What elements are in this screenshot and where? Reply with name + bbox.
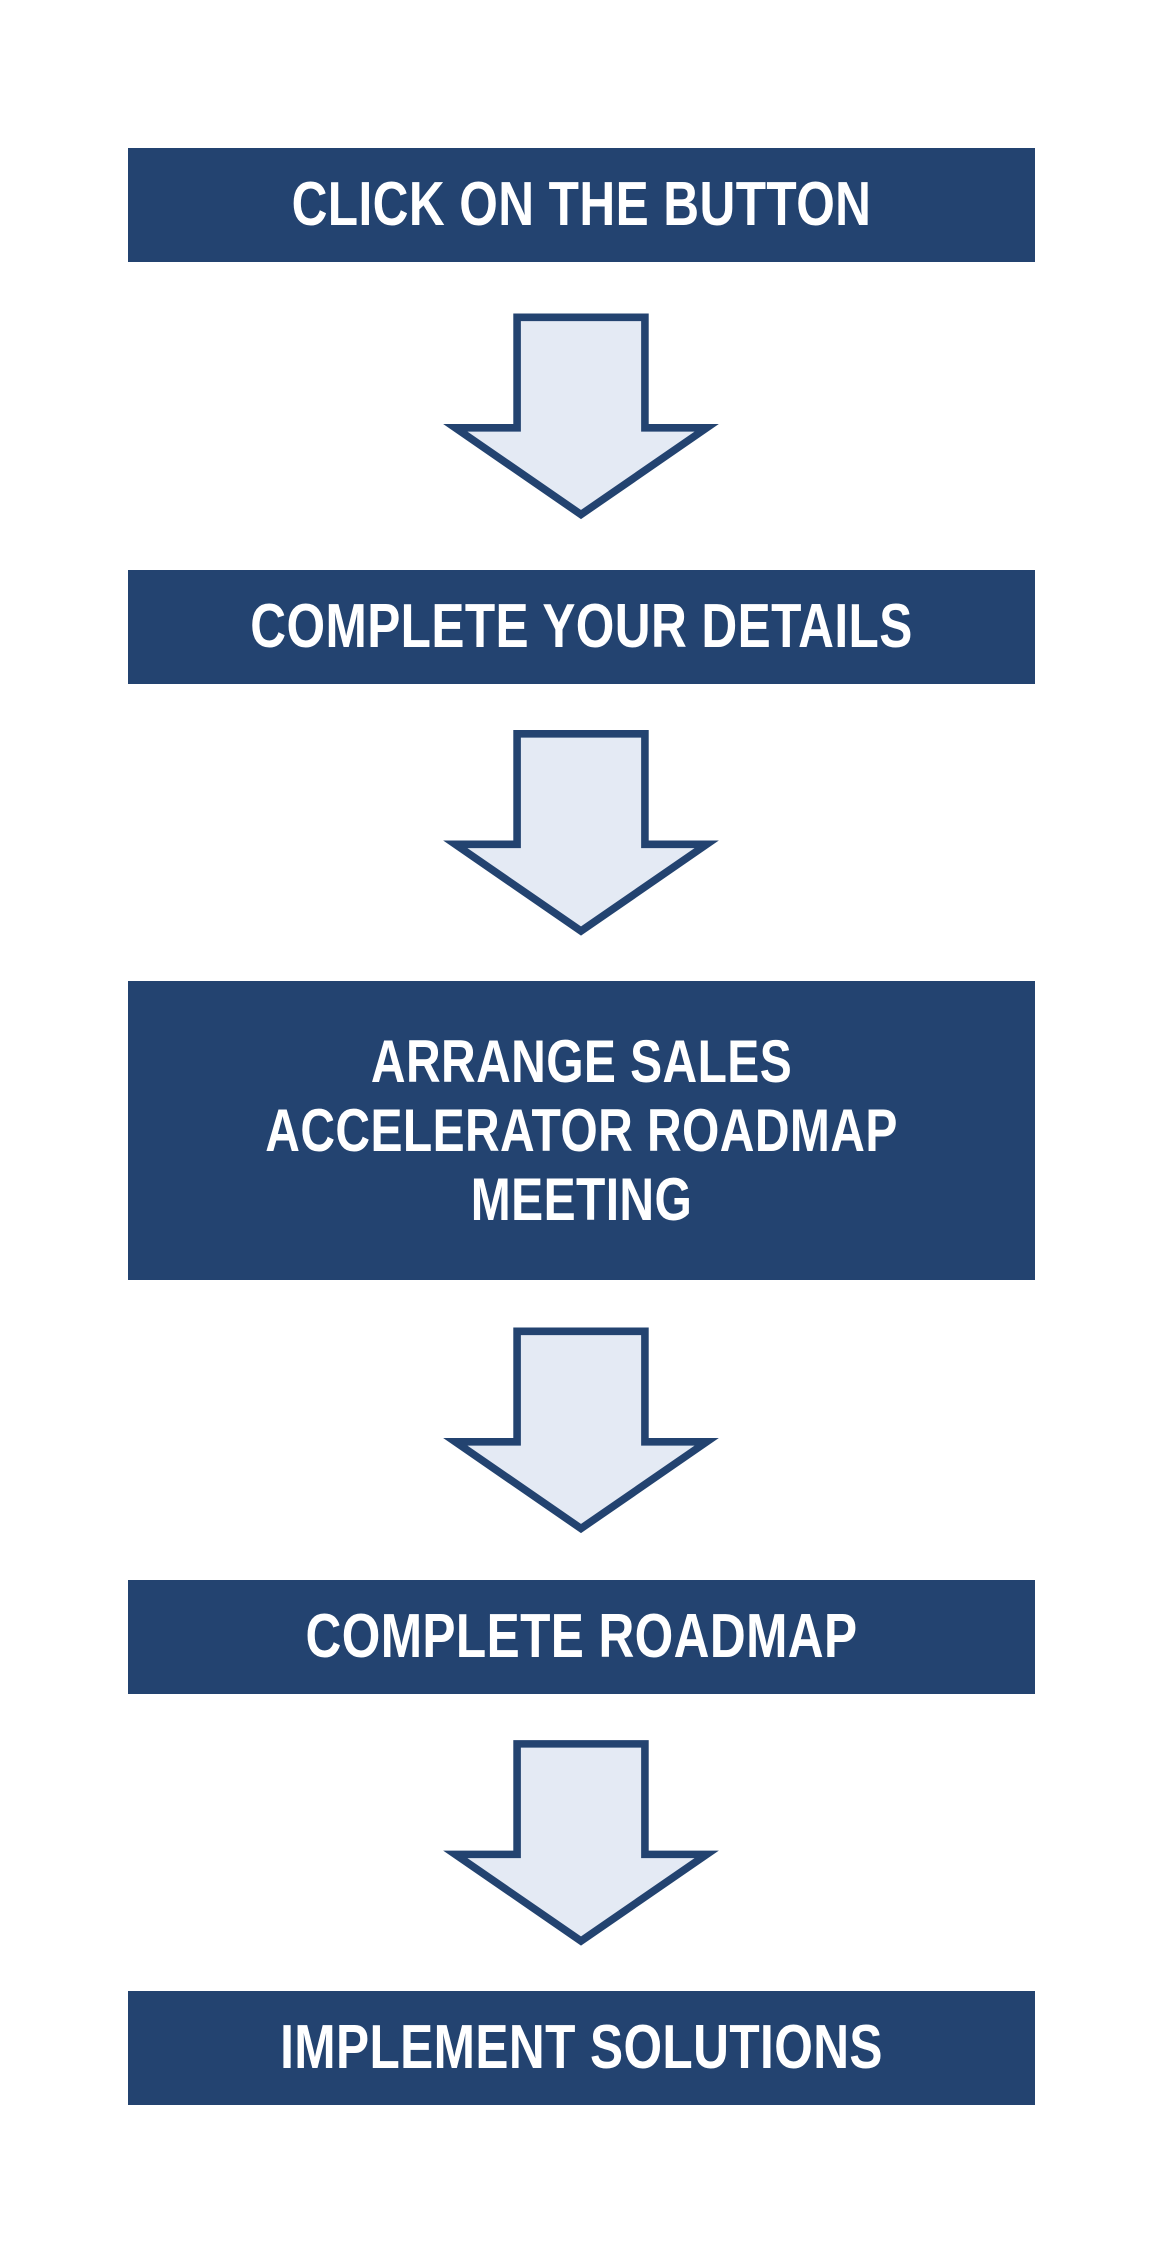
- flow-step-2-complete-your-details[interactable]: COMPLETE YOUR DETAILS: [128, 570, 1035, 684]
- arrow-down-icon: [451, 262, 711, 570]
- connector-arrow-3: [451, 1280, 711, 1580]
- flow-step-4-complete-roadmap[interactable]: COMPLETE ROADMAP: [128, 1580, 1035, 1694]
- step-5-label: IMPLEMENT SOLUTIONS: [229, 2010, 932, 2086]
- step-3-label: ARRANGE SALES ACCELERATOR ROADMAP MEETIN…: [229, 1027, 932, 1234]
- connector-arrow-4: [451, 1694, 711, 1991]
- arrow-down-icon: [451, 684, 711, 981]
- step-1-label: CLICK ON THE BUTTON: [229, 167, 932, 243]
- connector-arrow-2: [451, 684, 711, 981]
- step-4-label: COMPLETE ROADMAP: [229, 1599, 932, 1675]
- flow-step-5-implement-solutions[interactable]: IMPLEMENT SOLUTIONS: [128, 1991, 1035, 2105]
- flow-step-1-click-on-the-button[interactable]: CLICK ON THE BUTTON: [128, 148, 1035, 262]
- connector-arrow-1: [451, 262, 711, 570]
- flowchart-container: CLICK ON THE BUTTON COMPLETE YOUR DETAIL…: [0, 0, 1162, 2249]
- arrow-down-icon: [451, 1694, 711, 1991]
- arrow-down-icon: [451, 1280, 711, 1580]
- step-2-label: COMPLETE YOUR DETAILS: [229, 589, 932, 665]
- flow-step-3-arrange-sales-accelerator-roadmap-meeting[interactable]: ARRANGE SALES ACCELERATOR ROADMAP MEETIN…: [128, 981, 1035, 1281]
